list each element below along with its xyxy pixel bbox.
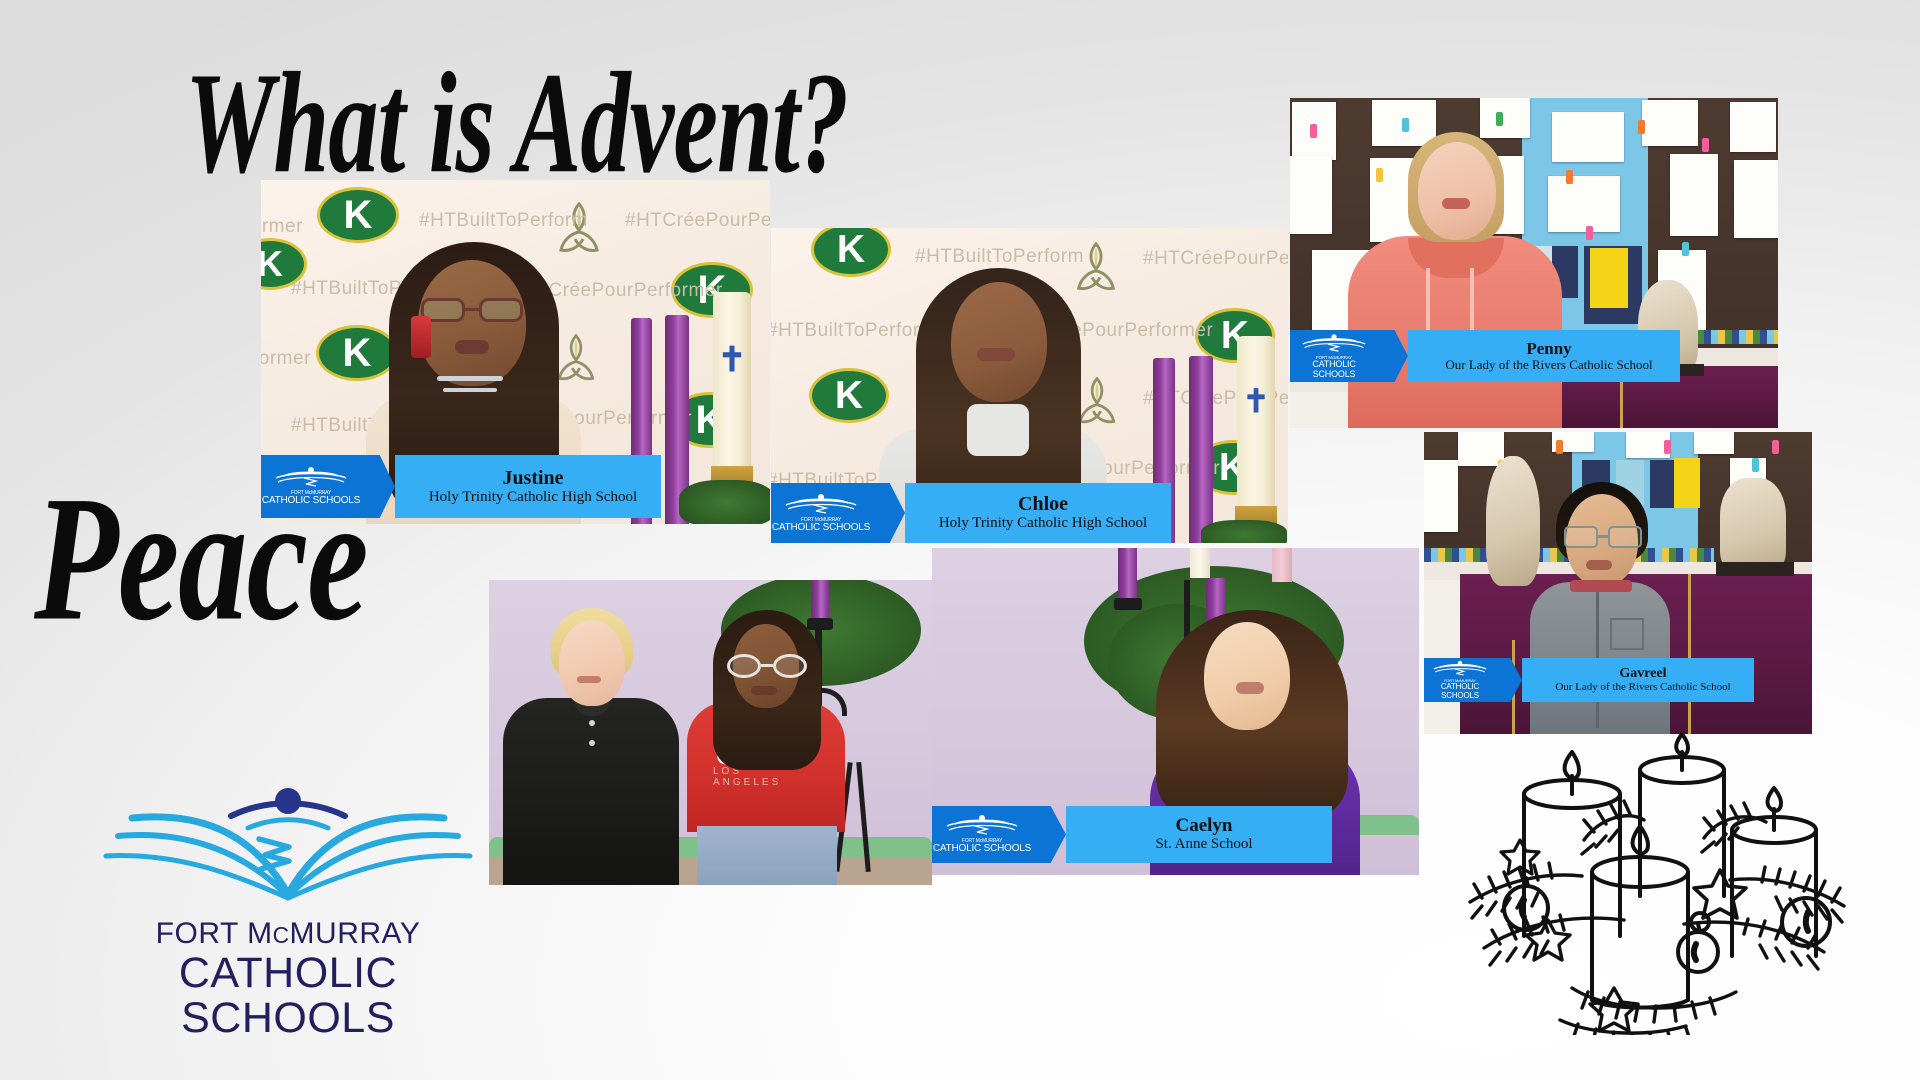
slide-canvas: What is Advent? Peace K K K K K xyxy=(0,0,1920,1080)
catholic-schools-logo-icon xyxy=(1301,333,1367,355)
banner-logo-block: FORT McMURRAY CATHOLIC SCHOOLS xyxy=(261,455,361,518)
clothespin xyxy=(1682,242,1689,256)
saint-card xyxy=(1670,154,1718,236)
saint-card xyxy=(1290,156,1332,234)
banner-text-block: Gavreel Our Lady of the Rivers Catholic … xyxy=(1522,658,1754,702)
student-name: Gavreel xyxy=(1619,667,1666,682)
banner-text-block: Chloe Holy Trinity Catholic High School xyxy=(905,483,1171,543)
photo-card-penny[interactable]: FORT McMURRAY CATHOLIC SCHOOLS Penny Our… xyxy=(1290,98,1778,428)
paschal-candle: ✝ xyxy=(1237,336,1275,511)
banner-text-block: Penny Our Lady of the Rivers Catholic Sc… xyxy=(1408,330,1680,382)
photo-card-caelyn[interactable]: YIMUSN FORT McMURRAY CATHOLIC SCHOOLS Ca… xyxy=(932,548,1419,875)
candle-holder xyxy=(1114,598,1142,610)
saint-card xyxy=(1642,100,1698,146)
name-banner-chloe: FORT McMURRAY CATHOLIC SCHOOLS Chloe Hol… xyxy=(771,483,1171,543)
backdrop-hashtag: #HTBuiltToPerform xyxy=(419,210,588,232)
clothespin xyxy=(1702,138,1709,152)
student-name: Justine xyxy=(502,468,563,489)
student-school: Holy Trinity Catholic High School xyxy=(939,515,1147,532)
banner-logo-line2: CATHOLIC SCHOOLS xyxy=(262,496,360,507)
student-school: St. Anne School xyxy=(1155,836,1252,853)
saint-card xyxy=(1730,102,1776,152)
clothespin xyxy=(1752,458,1759,472)
holy-trinity-k-icon: K xyxy=(811,228,891,277)
clothespin xyxy=(1556,440,1563,454)
banner-logo-block: FORT McMURRAY CATHOLIC SCHOOLS xyxy=(771,483,871,543)
backdrop-hashtag: #HTCréePourPerformer xyxy=(1143,248,1288,270)
nativity-statue xyxy=(1720,478,1786,572)
logo-line2: CATHOLIC SCHOOLS xyxy=(88,951,488,1041)
clothespin xyxy=(1638,120,1645,134)
clothespin xyxy=(1496,112,1503,126)
clothespin xyxy=(1664,440,1671,454)
catholic-schools-logo-icon xyxy=(88,784,488,919)
saint-card xyxy=(1694,432,1734,454)
folder-yellow xyxy=(1590,248,1628,308)
banner-logo-line2: CATHOLIC SCHOOLS xyxy=(933,844,1031,855)
advent-wreath-icon xyxy=(1452,730,1852,1035)
banner-logo-line2: CATHOLIC SCHOOLS xyxy=(772,523,870,534)
logo-line1: FORT MCMURRAY xyxy=(88,917,488,951)
wreath-greenery xyxy=(1201,520,1287,543)
banner-arrow-icon xyxy=(1496,658,1522,702)
backdrop-hashtag: #HTCréePourPerformer xyxy=(625,210,770,232)
name-banner-gavreel: FORT McMURRAY CATHOLIC SCHOOLS Gavreel O… xyxy=(1424,658,1754,702)
holy-trinity-k-icon: K xyxy=(316,325,398,381)
backdrop-hashtag: former xyxy=(261,348,311,370)
holy-trinity-k-icon: K xyxy=(809,368,889,423)
advent-candle-purple xyxy=(1118,548,1137,604)
chi-rho-icon: ✝ xyxy=(718,340,747,380)
banner-arrow-icon xyxy=(871,483,905,543)
banner-logo-block: FORT McMURRAY CATHOLIC SCHOOLS xyxy=(932,806,1032,863)
student-name: Penny xyxy=(1526,340,1571,358)
backdrop-hashtag: former xyxy=(261,216,303,238)
banner-logo-block: FORT McMURRAY CATHOLIC SCHOOLS xyxy=(1290,330,1378,382)
page-title: What is Advent? xyxy=(185,52,848,197)
banner-text-block: Caelyn St. Anne School xyxy=(1066,806,1332,863)
banner-logo-line2: CATHOLIC SCHOOLS xyxy=(1290,360,1378,379)
saint-card xyxy=(1480,98,1530,138)
denim-jeans xyxy=(697,826,837,885)
holy-trinity-k-icon: K xyxy=(317,187,399,243)
clothespin xyxy=(1772,440,1779,454)
advent-candle-purple xyxy=(811,580,829,622)
clothespin xyxy=(1402,118,1409,132)
banner-arrow-icon xyxy=(1032,806,1066,863)
backdrop-hashtag: #HTBuiltToPerform xyxy=(771,320,936,342)
photo-card-gavreel[interactable]: FORT McMURRAY CATHOLIC SCHOOLS Gavreel O… xyxy=(1424,432,1812,734)
wreath-greenery xyxy=(679,480,770,524)
photo-card-justine[interactable]: K K K K K xyxy=(261,180,770,524)
banner-arrow-icon xyxy=(1378,330,1408,382)
folder-navy xyxy=(1650,460,1674,508)
advent-candle-pink xyxy=(1272,548,1292,582)
banner-logo-line2: CATHOLIC SCHOOLS xyxy=(1424,683,1496,700)
shirt-brand-subtext: LOS ANGELES xyxy=(713,770,815,784)
saint-card xyxy=(1424,460,1458,532)
name-banner-justine: FORT McMURRAY CATHOLIC SCHOOLS Justine H… xyxy=(261,455,661,518)
catholic-schools-logo-icon xyxy=(274,466,348,490)
photo-card-chloe[interactable]: K K K K #HTBuiltToPerf xyxy=(771,228,1288,543)
student-school: Our Lady of the Rivers Catholic School xyxy=(1555,681,1730,693)
statue-stand xyxy=(1716,562,1794,576)
banner-text-block: Justine Holy Trinity Catholic High Schoo… xyxy=(395,455,661,518)
saint-card xyxy=(1548,176,1620,232)
nativity-statue xyxy=(1486,456,1540,586)
name-banner-caelyn: FORT McMURRAY CATHOLIC SCHOOLS Caelyn St… xyxy=(932,806,1332,863)
instruction-card xyxy=(1552,112,1624,162)
clothespin xyxy=(1586,226,1593,240)
paschal-candle: ✝ xyxy=(713,292,751,472)
photo-card-students-pair[interactable]: GUESS LOS ANGELES xyxy=(489,580,932,885)
advent-wreath-illustration xyxy=(1452,730,1852,1035)
catholic-schools-logo-icon xyxy=(1432,660,1488,678)
catholic-schools-logo-icon xyxy=(784,493,858,517)
student-name: Caelyn xyxy=(1176,816,1233,836)
table-gold-trim xyxy=(1688,574,1691,734)
clothespin xyxy=(1310,124,1317,138)
saint-card xyxy=(1734,160,1778,238)
candle-holder xyxy=(807,618,833,630)
division-logo: FORT MCMURRAY CATHOLIC SCHOOLS xyxy=(88,784,488,999)
banner-arrow-icon xyxy=(361,455,395,518)
student-school: Holy Trinity Catholic High School xyxy=(429,489,637,506)
backdrop-hashtag: #HTBuiltToPerform xyxy=(915,246,1084,268)
clothespin xyxy=(1376,168,1383,182)
student-name: Chloe xyxy=(1018,494,1068,515)
banner-logo-block: FORT McMURRAY CATHOLIC SCHOOLS xyxy=(1424,658,1496,702)
student-school: Our Lady of the Rivers Catholic School xyxy=(1445,358,1652,372)
advent-candle-white xyxy=(1190,548,1210,578)
folder-yellow xyxy=(1674,458,1700,508)
catholic-schools-logo-icon xyxy=(945,814,1019,838)
clothespin xyxy=(1566,170,1573,184)
advent-candle-purple xyxy=(1189,356,1213,543)
name-banner-penny: FORT McMURRAY CATHOLIC SCHOOLS Penny Our… xyxy=(1290,330,1680,382)
chi-rho-icon: ✝ xyxy=(1243,382,1270,420)
